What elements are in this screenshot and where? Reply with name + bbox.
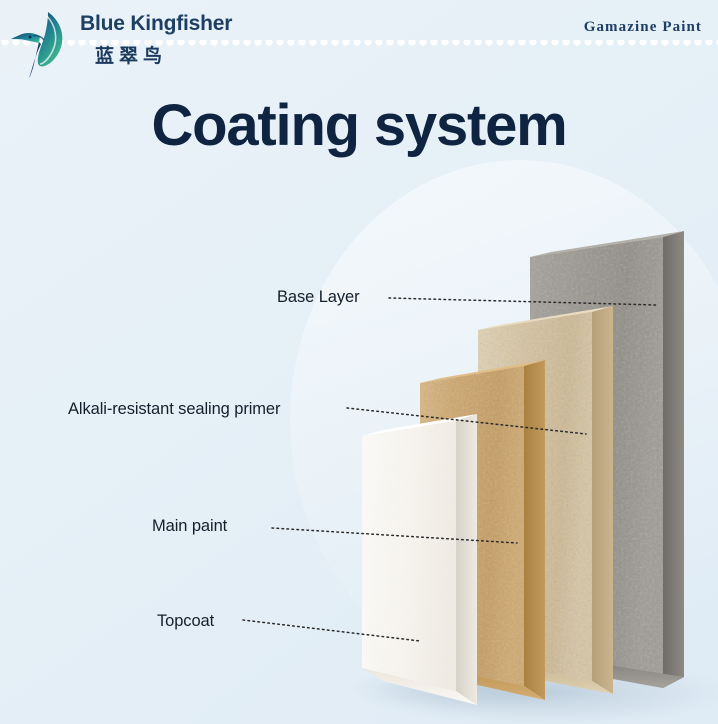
page-title: Coating system [0, 92, 718, 159]
layer-label-topcoat: Topcoat [157, 612, 214, 631]
brand-lockup: Blue Kingfisher 蓝翠鸟 [80, 13, 320, 68]
layer-label-main-paint: Main paint [152, 517, 227, 536]
brand-name-en: Blue Kingfisher [80, 13, 320, 34]
layer-label-base: Base Layer [277, 288, 359, 307]
header-bar: Blue Kingfisher 蓝翠鸟 Gamazine Paint [0, 0, 718, 88]
infographic-canvas: Base Layer Alkali-resistant sealing prim… [0, 0, 718, 724]
panel-topcoat [362, 414, 477, 705]
kingfisher-bird-logo-icon [8, 6, 80, 80]
layer-label-primer: Alkali-resistant sealing primer [68, 400, 280, 419]
product-tag: Gamazine Paint [584, 19, 702, 36]
brand-name-cn: 蓝翠鸟 [95, 41, 320, 68]
